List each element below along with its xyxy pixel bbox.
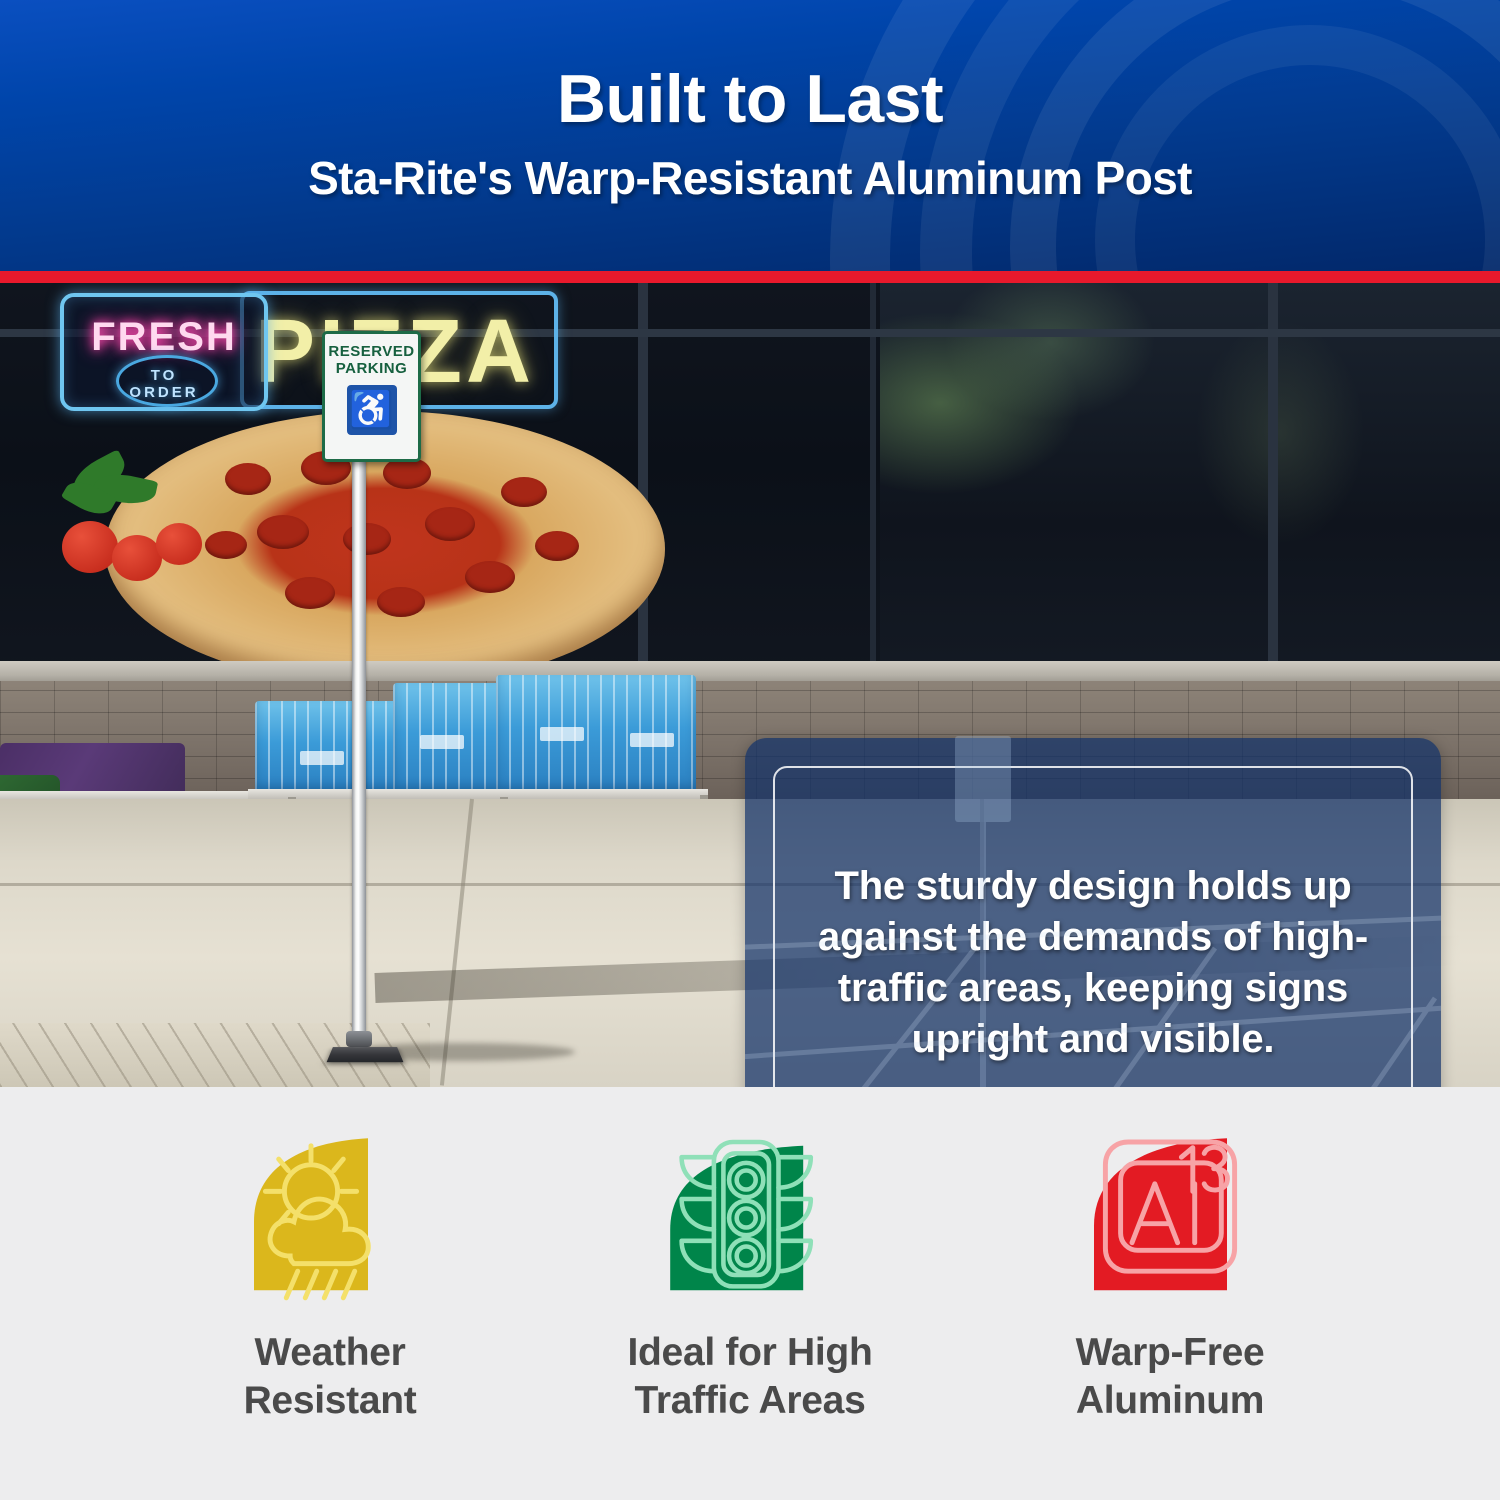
- feature-traffic-label-line1: Ideal for High: [628, 1331, 873, 1374]
- neon-fresh-text: FRESH: [72, 315, 256, 360]
- window-reflection-foliage: [880, 283, 1500, 683]
- window-mullion-right: [1268, 283, 1278, 687]
- feature-aluminum-label-line2: Aluminum: [1076, 1379, 1264, 1422]
- handicap-symbol-panel: ♿: [347, 385, 397, 435]
- reserved-parking-sign: RESERVED PARKING ♿: [322, 331, 421, 462]
- aluminum-element-icon: [1075, 1123, 1265, 1313]
- water-case-label-1: [300, 751, 344, 765]
- feature-weather-label-line1: Weather: [254, 1331, 405, 1374]
- fresh-to-order-neon-sign: FRESH TO ORDER: [60, 293, 268, 411]
- feature-aluminum-label: Warp-Free Aluminum: [1076, 1329, 1265, 1424]
- features-row: Weather Resistant: [0, 1087, 1500, 1500]
- water-case-label-4: [630, 733, 674, 747]
- neon-to-order-text: TO ORDER: [116, 367, 212, 401]
- tomato-graphic-1: [62, 521, 118, 573]
- callout-box: The sturdy design holds up against the d…: [745, 738, 1441, 1087]
- feature-weather-label: Weather Resistant: [244, 1329, 417, 1424]
- window-mullion-mid: [870, 283, 876, 687]
- post-base-plate: [327, 1047, 404, 1062]
- feature-aluminum-label-line1: Warp-Free: [1076, 1331, 1265, 1374]
- feature-warp-free-aluminum: Warp-Free Aluminum: [960, 1123, 1380, 1424]
- sign-line-reserved: RESERVED: [328, 343, 414, 360]
- product-photo: PIZZA FRESH TO ORDER: [0, 283, 1500, 1087]
- water-case-label-2: [420, 735, 464, 749]
- ghost-parking-sign: [955, 736, 1011, 822]
- water-case-label-3: [540, 727, 584, 741]
- traffic-light-icon: [655, 1123, 845, 1313]
- header-banner: Built to Last Sta-Rite's Warp-Resistant …: [0, 0, 1500, 271]
- feature-high-traffic: Ideal for High Traffic Areas: [540, 1123, 960, 1424]
- sign-line-parking: PARKING: [336, 360, 408, 377]
- accent-divider-bar: [0, 271, 1500, 283]
- page-subtitle: Sta-Rite's Warp-Resistant Aluminum Post: [308, 155, 1192, 201]
- feature-weather-resistant: Weather Resistant: [120, 1123, 540, 1424]
- window-mullion-left: [638, 283, 648, 687]
- feature-traffic-label: Ideal for High Traffic Areas: [628, 1329, 873, 1424]
- feature-weather-label-line2: Resistant: [244, 1379, 417, 1422]
- page-title: Built to Last: [557, 65, 943, 133]
- product-infographic: Built to Last Sta-Rite's Warp-Resistant …: [0, 0, 1500, 1500]
- tomato-graphic-3: [156, 523, 202, 565]
- aluminum-sign-post: [352, 395, 366, 1050]
- wheelchair-icon: ♿: [349, 392, 394, 428]
- post-collar: [346, 1031, 372, 1047]
- tomato-graphic-2: [112, 535, 162, 581]
- sun-cloud-rain-icon: [235, 1123, 425, 1313]
- ghost-parking-lot-lines: [745, 888, 1441, 1087]
- basil-leaves-graphic: [60, 455, 180, 525]
- feature-traffic-label-line2: Traffic Areas: [635, 1379, 866, 1422]
